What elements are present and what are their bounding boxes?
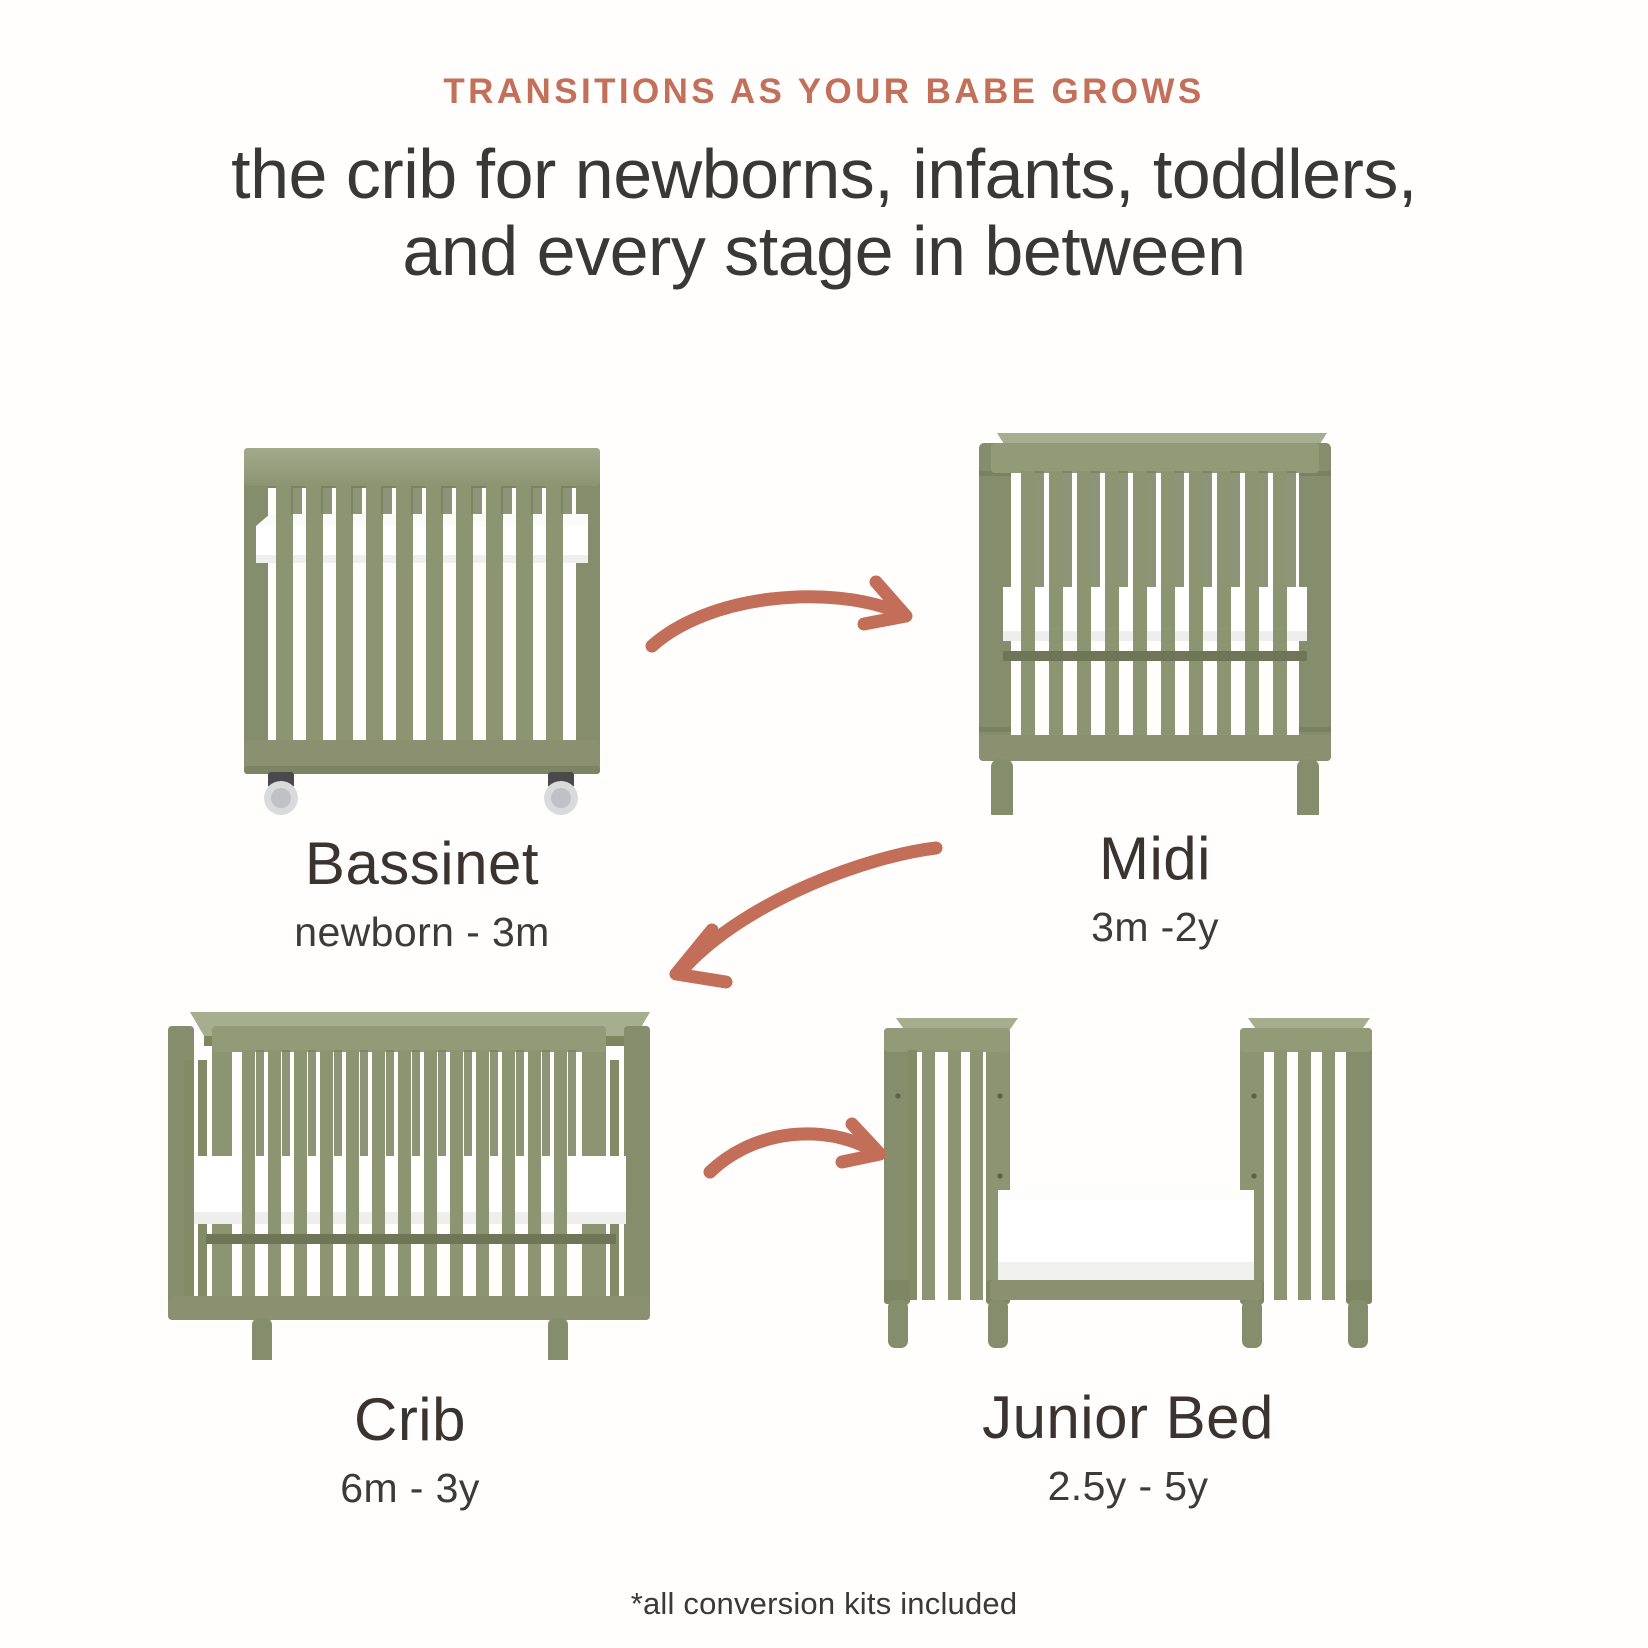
- caster-wheel-left: [264, 772, 298, 815]
- headline-line-2: and every stage in between: [0, 213, 1648, 290]
- stage-card-junior-bed: Junior Bed 2.5y - 5y: [878, 1000, 1378, 1360]
- crib-illustration: [150, 1000, 670, 1360]
- caption-midi: Midi 3m -2y: [955, 827, 1355, 951]
- mattress: [1003, 587, 1307, 641]
- stage-age-junior-bed: 2.5y - 5y: [878, 1463, 1378, 1510]
- curved-arrow-right-icon: [640, 550, 930, 670]
- stage-title-crib: Crib: [150, 1388, 670, 1451]
- stage-title-midi: Midi: [955, 827, 1355, 890]
- caption-junior-bed: Junior Bed 2.5y - 5y: [878, 1386, 1378, 1510]
- stage-age-midi: 3m -2y: [955, 904, 1355, 951]
- midi-crib-illustration: [955, 415, 1355, 815]
- headline-line-1: the crib for newborns, infants, toddlers…: [231, 135, 1417, 213]
- caster-wheel-right: [544, 772, 578, 815]
- caption-bassinet: Bassinet newborn - 3m: [222, 832, 622, 956]
- stage-title-bassinet: Bassinet: [222, 832, 622, 895]
- mattress: [256, 514, 588, 563]
- junior-bed-illustration: [878, 1000, 1378, 1360]
- stage-age-bassinet: newborn - 3m: [222, 909, 622, 956]
- eyebrow-text: TRANSITIONS AS YOUR BABE GROWS: [0, 72, 1648, 112]
- bassinet-illustration: [222, 400, 622, 820]
- leg-left: [991, 759, 1013, 815]
- stage-title-junior-bed: Junior Bed: [878, 1386, 1378, 1449]
- page-title: the crib for newborns, infants, toddlers…: [0, 136, 1648, 290]
- leg-right: [1297, 759, 1319, 815]
- curved-arrow-right-icon: [700, 1100, 900, 1210]
- leg-right: [548, 1318, 568, 1360]
- stage-card-bassinet: Bassinet newborn - 3m: [222, 400, 622, 820]
- leg-left: [252, 1318, 272, 1360]
- mattress: [998, 1190, 1254, 1282]
- footnote-text: *all conversion kits included: [0, 1586, 1648, 1622]
- curved-arrow-down-left-icon: [628, 770, 948, 1000]
- stage-card-crib: Crib 6m - 3y: [150, 1000, 670, 1360]
- infographic-page: TRANSITIONS AS YOUR BABE GROWS the crib …: [0, 0, 1648, 1648]
- stage-age-crib: 6m - 3y: [150, 1465, 670, 1512]
- caption-crib: Crib 6m - 3y: [150, 1388, 670, 1512]
- stage-card-midi: Midi 3m -2y: [955, 415, 1355, 815]
